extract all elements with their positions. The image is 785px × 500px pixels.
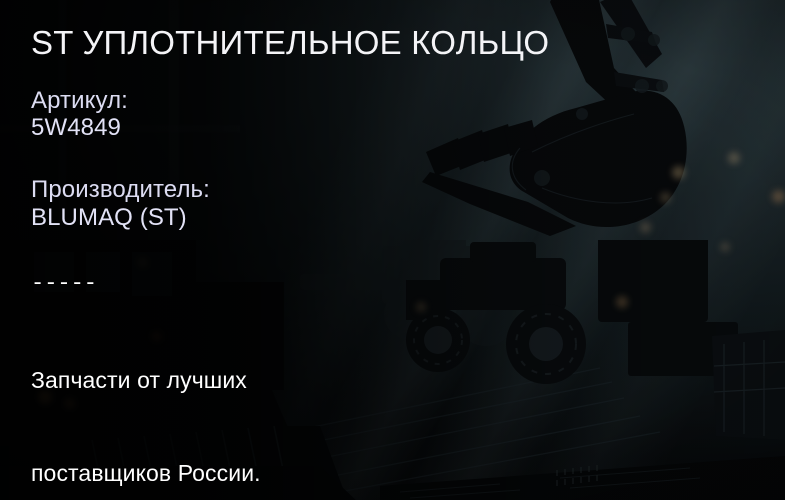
divider-dashes: -----	[31, 272, 97, 296]
page-title: ST УПЛОТНИТЕЛЬНОЕ КОЛЬЦО	[31, 24, 549, 62]
manufacturer-label: Производитель:	[31, 175, 210, 205]
text-overlay: ST УПЛОТНИТЕЛЬНОЕ КОЛЬЦО Артикул: 5W4849…	[0, 0, 785, 500]
promo-line-2: поставщиков России.	[31, 458, 261, 489]
article-label: Артикул:	[31, 86, 128, 116]
product-banner: ST УПЛОТНИТЕЛЬНОЕ КОЛЬЦО Артикул: 5W4849…	[0, 0, 785, 500]
manufacturer-value: BLUMAQ (ST)	[31, 203, 187, 233]
article-value: 5W4849	[31, 113, 121, 143]
promo-block: Запчасти от лучших поставщиков России. П…	[31, 303, 261, 500]
promo-line-1: Запчасти от лучших	[31, 365, 261, 396]
